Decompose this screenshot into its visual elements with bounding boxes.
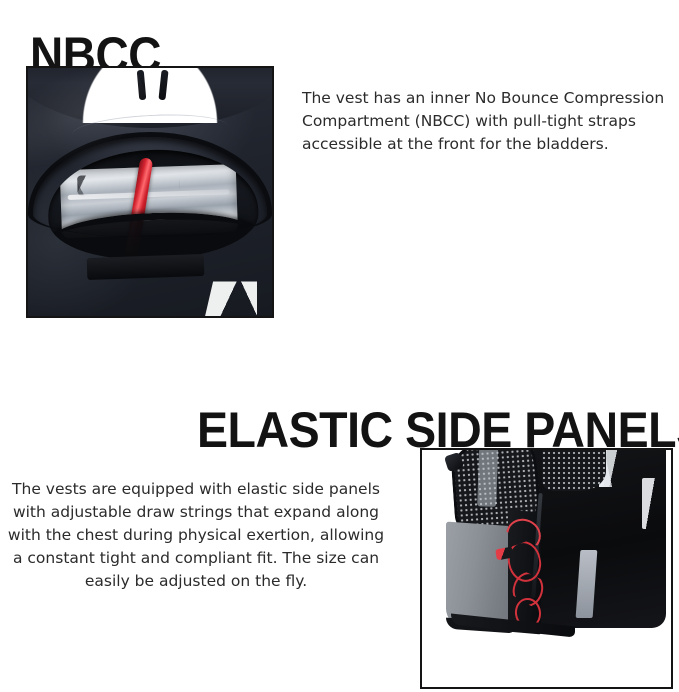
product-photo-elastic-side-panels [420, 448, 673, 689]
section-body-elastic-side-panels: The vests are equipped with elastic side… [2, 478, 390, 593]
photo-stage-elastic [422, 450, 671, 687]
product-photo-nbcc [26, 66, 274, 318]
running-vest [427, 450, 666, 663]
mesh-reflective-accent [477, 450, 498, 507]
vest-back-print-secondary [642, 478, 664, 529]
section-body-nbcc: The vest has an inner No Bounce Compress… [302, 87, 679, 156]
section-heading-elastic-side-panels: ELASTIC SIDE PANELS [197, 405, 679, 455]
infographic-page: NBCC The vest has an inner No Bounce Com… [0, 0, 679, 692]
mesh-pocket-upper [542, 450, 607, 491]
photo-stage-nbcc [28, 68, 272, 316]
